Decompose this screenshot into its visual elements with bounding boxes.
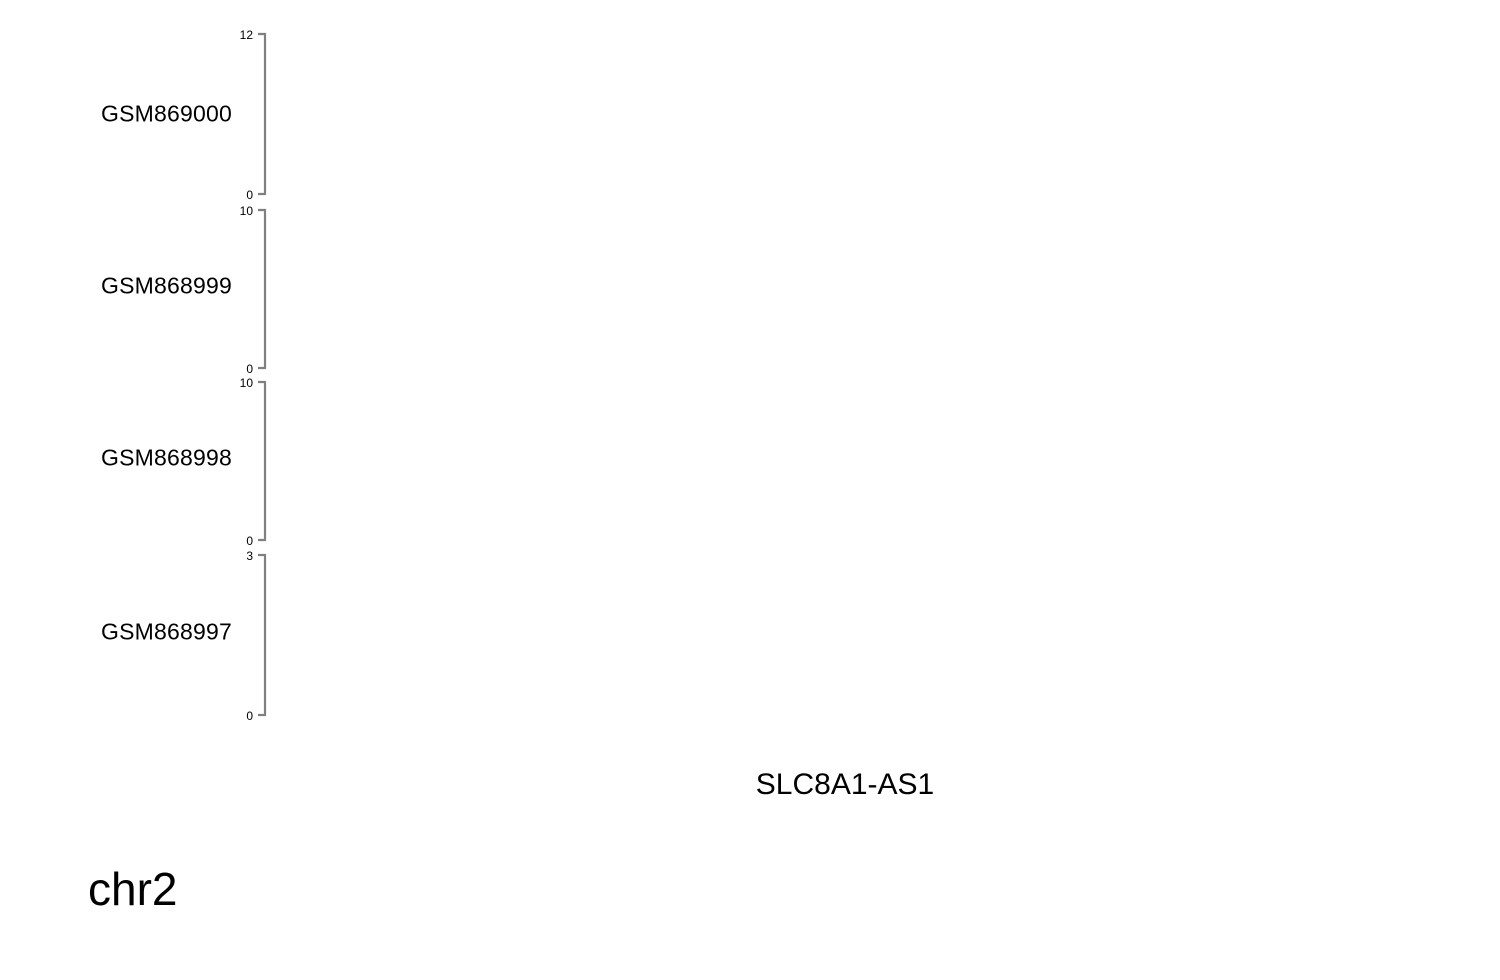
gene-model-track <box>266 812 1424 860</box>
coverage-profile-gsm869000 <box>266 34 1424 194</box>
plot-area-track-3 <box>266 382 1424 540</box>
y-axis-max-label-4: 3 <box>246 549 253 563</box>
plot-area-track-2 <box>266 210 1424 368</box>
gene-name-title: SLC8A1-AS1 <box>266 768 1424 802</box>
y-axis-track-3: 10 0 <box>0 372 270 544</box>
coverage-track-4: GSM868997 3 0 <box>0 544 1440 720</box>
y-axis-track-1: 12 0 <box>0 28 270 200</box>
y-axis-max-label-1: 12 <box>240 28 254 42</box>
coverage-profile-gsm868998 <box>266 382 1424 540</box>
chromosome-label: chr2 <box>88 862 177 916</box>
coverage-profile-gsm868999 <box>266 210 1424 368</box>
coverage-track-2: GSM868999 10 0 <box>0 200 1440 372</box>
y-axis-max-label-2: 10 <box>240 204 254 218</box>
y-axis-min-label-4: 0 <box>246 709 253 723</box>
plot-area-track-1 <box>266 34 1424 194</box>
genome-browser-figure: GSM869000 12 0 GSM868999 10 0 GSM868998 <box>0 0 1500 980</box>
y-axis-track-4: 3 0 <box>0 544 270 720</box>
coverage-profile-gsm868997 <box>266 555 1424 715</box>
coverage-track-3: GSM868998 10 0 <box>0 372 1440 544</box>
y-axis-track-2: 10 0 <box>0 200 270 372</box>
coverage-track-1: GSM869000 12 0 <box>0 28 1440 200</box>
chromosome-ideogram-ruler <box>266 876 1446 966</box>
y-axis-max-label-3: 10 <box>240 376 254 390</box>
plot-area-track-4 <box>266 555 1424 715</box>
